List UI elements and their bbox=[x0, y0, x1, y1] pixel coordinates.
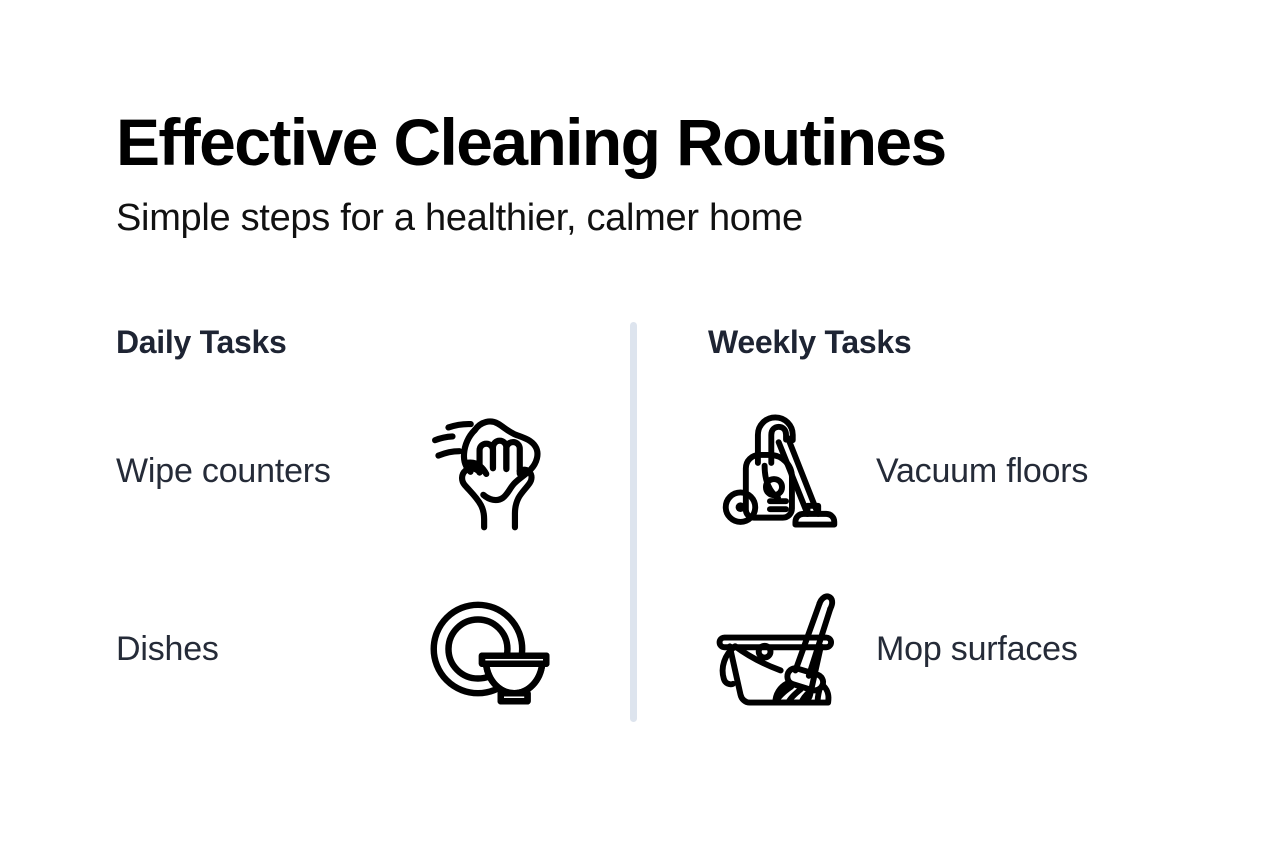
task-row[interactable]: Wipe counters bbox=[116, 382, 556, 560]
canister-vacuum-icon bbox=[708, 401, 848, 541]
task-columns: Daily Tasks Wipe counters bbox=[0, 322, 1264, 732]
column-daily-tasks: Daily Tasks Wipe counters bbox=[116, 322, 632, 732]
task-label-wipe-counters: Wipe counters bbox=[116, 452, 331, 490]
page-header: Effective Cleaning Routines Simple steps… bbox=[116, 108, 1176, 242]
infographic-page: Effective Cleaning Routines Simple steps… bbox=[0, 0, 1264, 848]
column-weekly-tasks: Weekly Tasks bbox=[708, 322, 1224, 732]
task-list-daily: Wipe counters bbox=[116, 382, 632, 738]
task-label-dishes: Dishes bbox=[116, 630, 219, 668]
page-subtitle: Simple steps for a healthier, calmer hom… bbox=[116, 195, 1176, 243]
column-heading-daily: Daily Tasks bbox=[116, 322, 632, 370]
task-label-box: Wipe counters bbox=[116, 451, 416, 492]
mop-bucket-icon bbox=[708, 579, 848, 719]
task-label-box: Dishes bbox=[116, 629, 416, 670]
task-row[interactable]: Vacuum floors bbox=[708, 382, 1148, 560]
task-label-vacuum-floors: Vacuum floors bbox=[876, 452, 1088, 490]
wiping-hand-cloth-icon bbox=[416, 401, 556, 541]
page-title: Effective Cleaning Routines bbox=[116, 108, 1176, 177]
task-list-weekly: Vacuum floors bbox=[708, 382, 1224, 738]
task-row[interactable]: Dishes bbox=[116, 560, 556, 738]
column-heading-weekly: Weekly Tasks bbox=[708, 322, 1224, 370]
task-label-mop-surfaces: Mop surfaces bbox=[876, 630, 1078, 668]
plate-bowl-dishes-icon bbox=[416, 579, 556, 719]
task-label-box: Vacuum floors bbox=[848, 451, 1148, 492]
task-label-box: Mop surfaces bbox=[848, 629, 1148, 670]
task-row[interactable]: Mop surfaces bbox=[708, 560, 1148, 738]
